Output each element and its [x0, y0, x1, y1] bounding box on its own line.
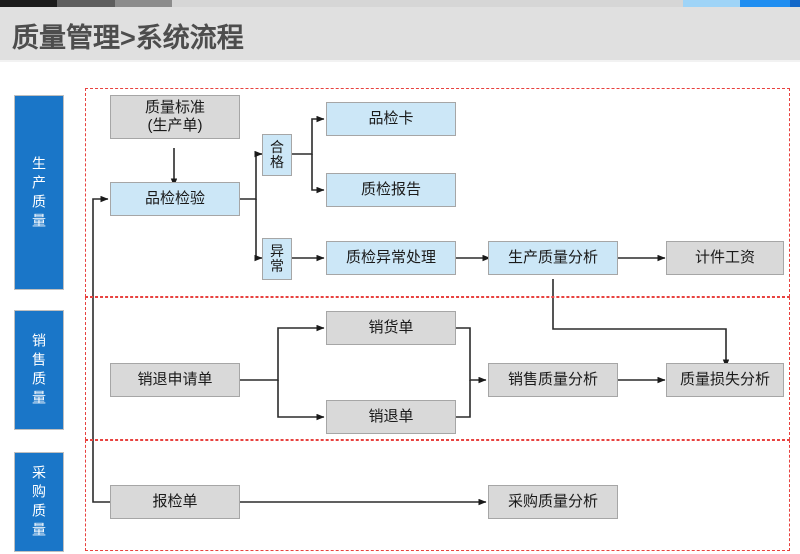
node-qualified[interactable]: 合 格 [262, 134, 292, 176]
node-inspection-report[interactable]: 质检报告 [326, 173, 456, 207]
title-bar: 质量管理>系统流程 [0, 7, 800, 60]
section-label-procurement-text: 采购质量 [32, 465, 46, 541]
section-label-sales[interactable]: 销售质量 [14, 310, 64, 430]
strip-segment-light-gray [172, 0, 683, 7]
node-sales-order[interactable]: 销货单 [326, 311, 456, 345]
flowchart-page: 质量管理>系统流程 [0, 0, 800, 554]
node-quality-inspection[interactable]: 品检检验 [110, 182, 240, 216]
section-label-sales-text: 销售质量 [32, 333, 46, 409]
node-abnormal[interactable]: 异 常 [262, 238, 292, 280]
page-title: 质量管理>系统流程 [12, 16, 244, 55]
diagram-canvas: 生产质量 销售质量 采购质量 质量标准 (生产单) 品检检验 合 格 异 常 品… [0, 62, 800, 554]
node-sales-return-request[interactable]: 销退申请单 [110, 363, 240, 397]
strip-segment-mid-gray [115, 0, 172, 7]
strip-segment-blue [740, 0, 790, 7]
section-label-production-text: 生产质量 [32, 156, 46, 232]
node-abnormal-handling[interactable]: 质检异常处理 [326, 241, 456, 275]
node-sales-analysis[interactable]: 销售质量分析 [488, 363, 618, 397]
node-production-analysis[interactable]: 生产质量分析 [488, 241, 618, 275]
section-label-procurement[interactable]: 采购质量 [14, 452, 64, 552]
strip-segment-dark [0, 0, 57, 7]
node-quality-loss-analysis[interactable]: 质量损失分析 [666, 363, 784, 397]
node-sales-return-order[interactable]: 销退单 [326, 400, 456, 434]
strip-segment-deep-blue [790, 0, 800, 7]
node-quality-standard[interactable]: 质量标准 (生产单) [110, 95, 240, 139]
section-label-production[interactable]: 生产质量 [14, 95, 64, 290]
node-purchase-analysis[interactable]: 采购质量分析 [488, 485, 618, 519]
strip-segment-gray [57, 0, 115, 7]
node-inspection-request[interactable]: 报检单 [110, 485, 240, 519]
node-inspection-card[interactable]: 品检卡 [326, 102, 456, 136]
top-accent-strip [0, 0, 800, 7]
node-piece-rate-wage[interactable]: 计件工资 [666, 241, 784, 275]
strip-segment-light-blue [683, 0, 740, 7]
